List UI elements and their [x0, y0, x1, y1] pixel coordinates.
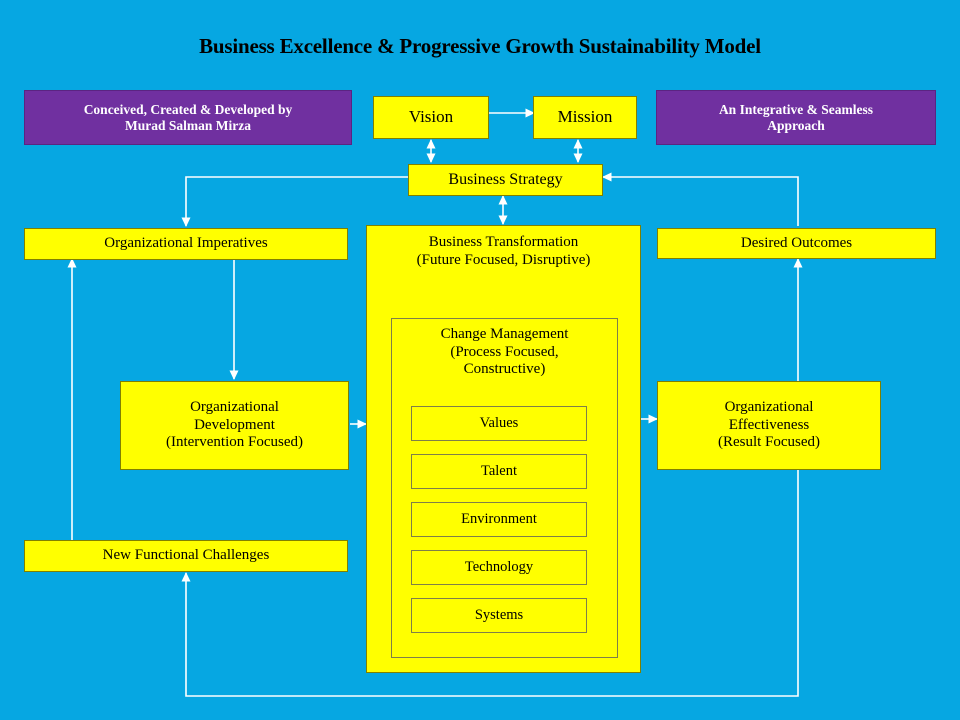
change-management-line-1: Change Management	[392, 326, 617, 344]
node-mission-label: Mission	[558, 107, 613, 127]
change-management-item-list: Values Talent Environment Technology Sys…	[411, 406, 587, 633]
node-mission[interactable]: Mission	[533, 96, 637, 139]
node-business-strategy[interactable]: Business Strategy	[408, 164, 603, 196]
connector-strategy-imperatives	[186, 177, 408, 226]
node-organizational-imperatives[interactable]: Organizational Imperatives	[24, 228, 348, 260]
change-management-item-technology[interactable]: Technology	[411, 550, 587, 585]
change-management-item-talent[interactable]: Talent	[411, 454, 587, 489]
change-management-item-technology-label: Technology	[465, 559, 533, 576]
node-desired-outcomes[interactable]: Desired Outcomes	[657, 228, 936, 259]
connector-outcomes-strategy	[603, 177, 798, 226]
change-management-item-values[interactable]: Values	[411, 406, 587, 441]
change-management-item-environment[interactable]: Environment	[411, 502, 587, 537]
change-management-item-environment-label: Environment	[461, 511, 537, 528]
change-management-line-3: Constructive)	[392, 361, 617, 379]
node-organizational-imperatives-label: Organizational Imperatives	[104, 235, 267, 253]
credit-author-line-1: Conceived, Created & Developed by	[84, 102, 293, 118]
organizational-development-line-1: Organizational	[190, 399, 279, 417]
change-management-item-systems[interactable]: Systems	[411, 598, 587, 633]
diagram-canvas: Business Excellence & Progressive Growth…	[0, 0, 960, 720]
business-transformation-line-2: (Future Focused, Disruptive)	[367, 252, 640, 270]
node-desired-outcomes-label: Desired Outcomes	[741, 235, 852, 253]
credit-approach-line-1: An Integrative & Seamless	[719, 102, 873, 118]
node-new-functional-challenges-label: New Functional Challenges	[103, 547, 270, 565]
node-vision[interactable]: Vision	[373, 96, 489, 139]
organizational-effectiveness-line-2: Effectiveness	[729, 417, 810, 435]
change-management-line-2: (Process Focused,	[392, 344, 617, 362]
credit-box-approach: An Integrative & Seamless Approach	[656, 90, 936, 145]
node-change-management-heading: Change Management (Process Focused, Cons…	[392, 326, 617, 379]
page-title: Business Excellence & Progressive Growth…	[0, 34, 960, 59]
node-business-transformation-heading: Business Transformation (Future Focused,…	[367, 234, 640, 269]
node-organizational-development[interactable]: Organizational Development (Intervention…	[120, 381, 349, 470]
organizational-development-line-2: Development	[194, 417, 275, 435]
business-transformation-line-1: Business Transformation	[367, 234, 640, 252]
credit-author-line-2: Murad Salman Mirza	[125, 118, 251, 134]
organizational-effectiveness-line-3: (Result Focused)	[718, 434, 820, 452]
credit-approach-line-2: Approach	[767, 118, 825, 134]
node-business-transformation[interactable]: Business Transformation (Future Focused,…	[366, 225, 641, 673]
node-organizational-effectiveness[interactable]: Organizational Effectiveness (Result Foc…	[657, 381, 881, 470]
node-change-management[interactable]: Change Management (Process Focused, Cons…	[391, 318, 618, 658]
change-management-item-systems-label: Systems	[475, 607, 523, 624]
node-vision-label: Vision	[409, 107, 453, 127]
organizational-development-line-3: (Intervention Focused)	[166, 434, 303, 452]
node-business-strategy-label: Business Strategy	[448, 171, 562, 190]
change-management-item-talent-label: Talent	[481, 463, 517, 480]
organizational-effectiveness-line-1: Organizational	[725, 399, 814, 417]
node-new-functional-challenges[interactable]: New Functional Challenges	[24, 540, 348, 572]
change-management-item-values-label: Values	[480, 415, 519, 432]
credit-box-author: Conceived, Created & Developed by Murad …	[24, 90, 352, 145]
